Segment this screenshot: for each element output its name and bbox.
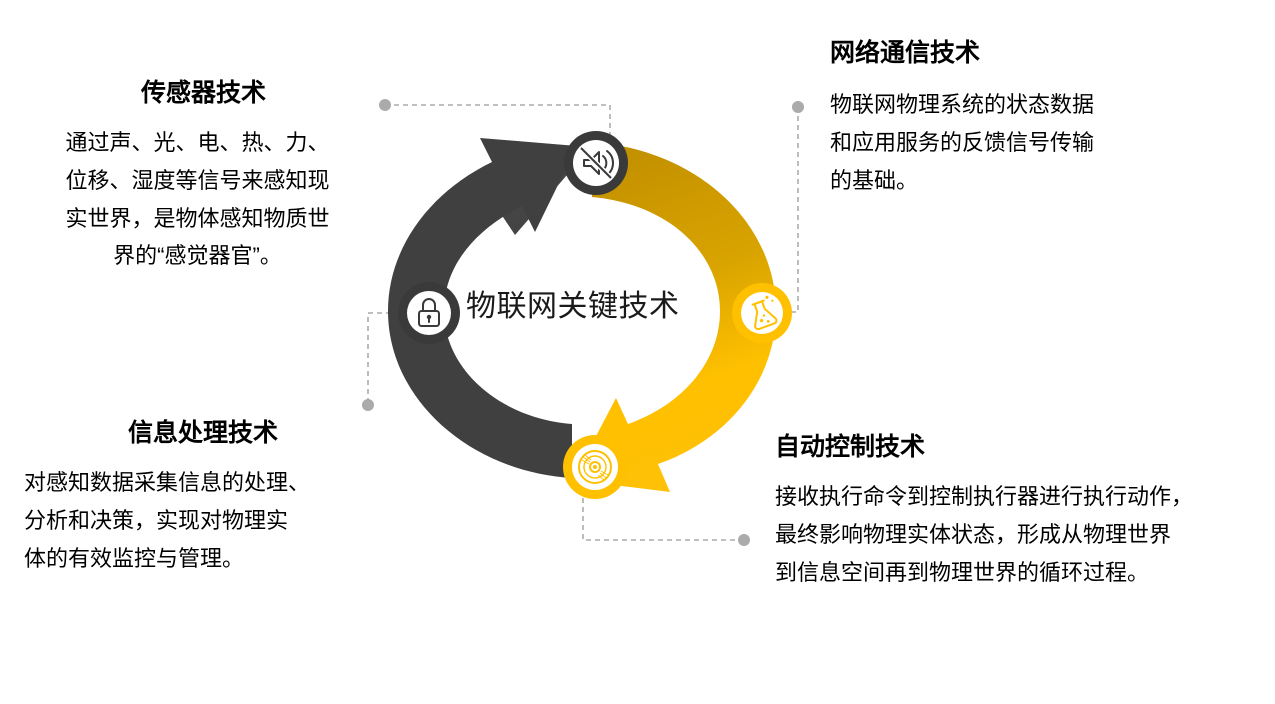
connector-dot-network-end xyxy=(792,101,804,113)
callout-network-line-2: 和应用服务的反馈信号传输 xyxy=(830,124,1250,162)
callout-control-line-2: 最终影响物理实体状态，形成从物理世界 xyxy=(775,516,1255,554)
callout-network-heading: 网络通信技术 xyxy=(830,38,1250,68)
callout-network: 网络通信技术 物联网物理系统的状态数据 和应用服务的反馈信号传输 的基础。 xyxy=(830,38,1250,199)
callout-sensor-line-1: 通过声、光、电、热、力、 xyxy=(20,124,375,162)
center-label: 物联网关键技术 xyxy=(466,292,680,322)
connector-dot-control-end xyxy=(738,534,750,546)
callout-network-line-1: 物联网物理系统的状态数据 xyxy=(830,86,1250,124)
callout-control: 自动控制技术 接收执行命令到控制执行器进行执行动作， 最终影响物理实体状态，形成… xyxy=(775,432,1255,591)
disc-icon xyxy=(579,451,611,483)
callout-info-body: 对感知数据采集信息的处理、 分析和决策，实现对物理实 体的有效监控与管理。 xyxy=(18,464,378,577)
node-icon-info[interactable] xyxy=(398,282,460,344)
infographic-canvas: 物联网关键技术 传感器技术 通过声、光、电、热、力、 位移、湿度等信号来感知现 … xyxy=(0,0,1275,704)
callout-network-body: 物联网物理系统的状态数据 和应用服务的反馈信号传输 的基础。 xyxy=(830,86,1250,199)
node-icon-sensor[interactable] xyxy=(564,131,628,195)
callout-control-line-3: 到信息空间再到物理世界的循环过程。 xyxy=(775,554,1255,592)
callout-sensor-line-3: 实世界，是物体感知物质世 xyxy=(20,200,375,238)
callout-sensor: 传感器技术 通过声、光、电、热、力、 位移、湿度等信号来感知现 实世界，是物体感… xyxy=(20,78,375,275)
callout-sensor-body: 通过声、光、电、热、力、 位移、湿度等信号来感知现 实世界，是物体感知物质世 界… xyxy=(20,124,375,275)
connector-dot-sensor-end xyxy=(379,99,391,111)
callout-info: 信息处理技术 对感知数据采集信息的处理、 分析和决策，实现对物理实 体的有效监控… xyxy=(18,418,378,577)
callout-info-heading: 信息处理技术 xyxy=(18,418,378,448)
callout-info-line-3: 体的有效监控与管理。 xyxy=(24,540,378,578)
callout-sensor-line-4: 界的“感觉器官”。 xyxy=(20,237,375,275)
callout-control-heading: 自动控制技术 xyxy=(775,432,1255,462)
connector-dot-info-end xyxy=(362,399,374,411)
callout-control-body: 接收执行命令到控制执行器进行执行动作， 最终影响物理实体状态，形成从物理世界 到… xyxy=(775,478,1255,591)
callout-sensor-heading: 传感器技术 xyxy=(20,78,375,108)
callout-sensor-line-2: 位移、湿度等信号来感知现 xyxy=(20,162,375,200)
node-icon-network[interactable] xyxy=(732,283,792,343)
node-icon-control[interactable] xyxy=(563,435,627,499)
connector-sensor xyxy=(385,105,610,142)
callout-info-line-1: 对感知数据采集信息的处理、 xyxy=(24,464,378,502)
callout-info-line-2: 分析和决策，实现对物理实 xyxy=(24,502,378,540)
callout-control-line-1: 接收执行命令到控制执行器进行执行动作， xyxy=(775,478,1255,516)
callout-network-line-3: 的基础。 xyxy=(830,162,1250,200)
